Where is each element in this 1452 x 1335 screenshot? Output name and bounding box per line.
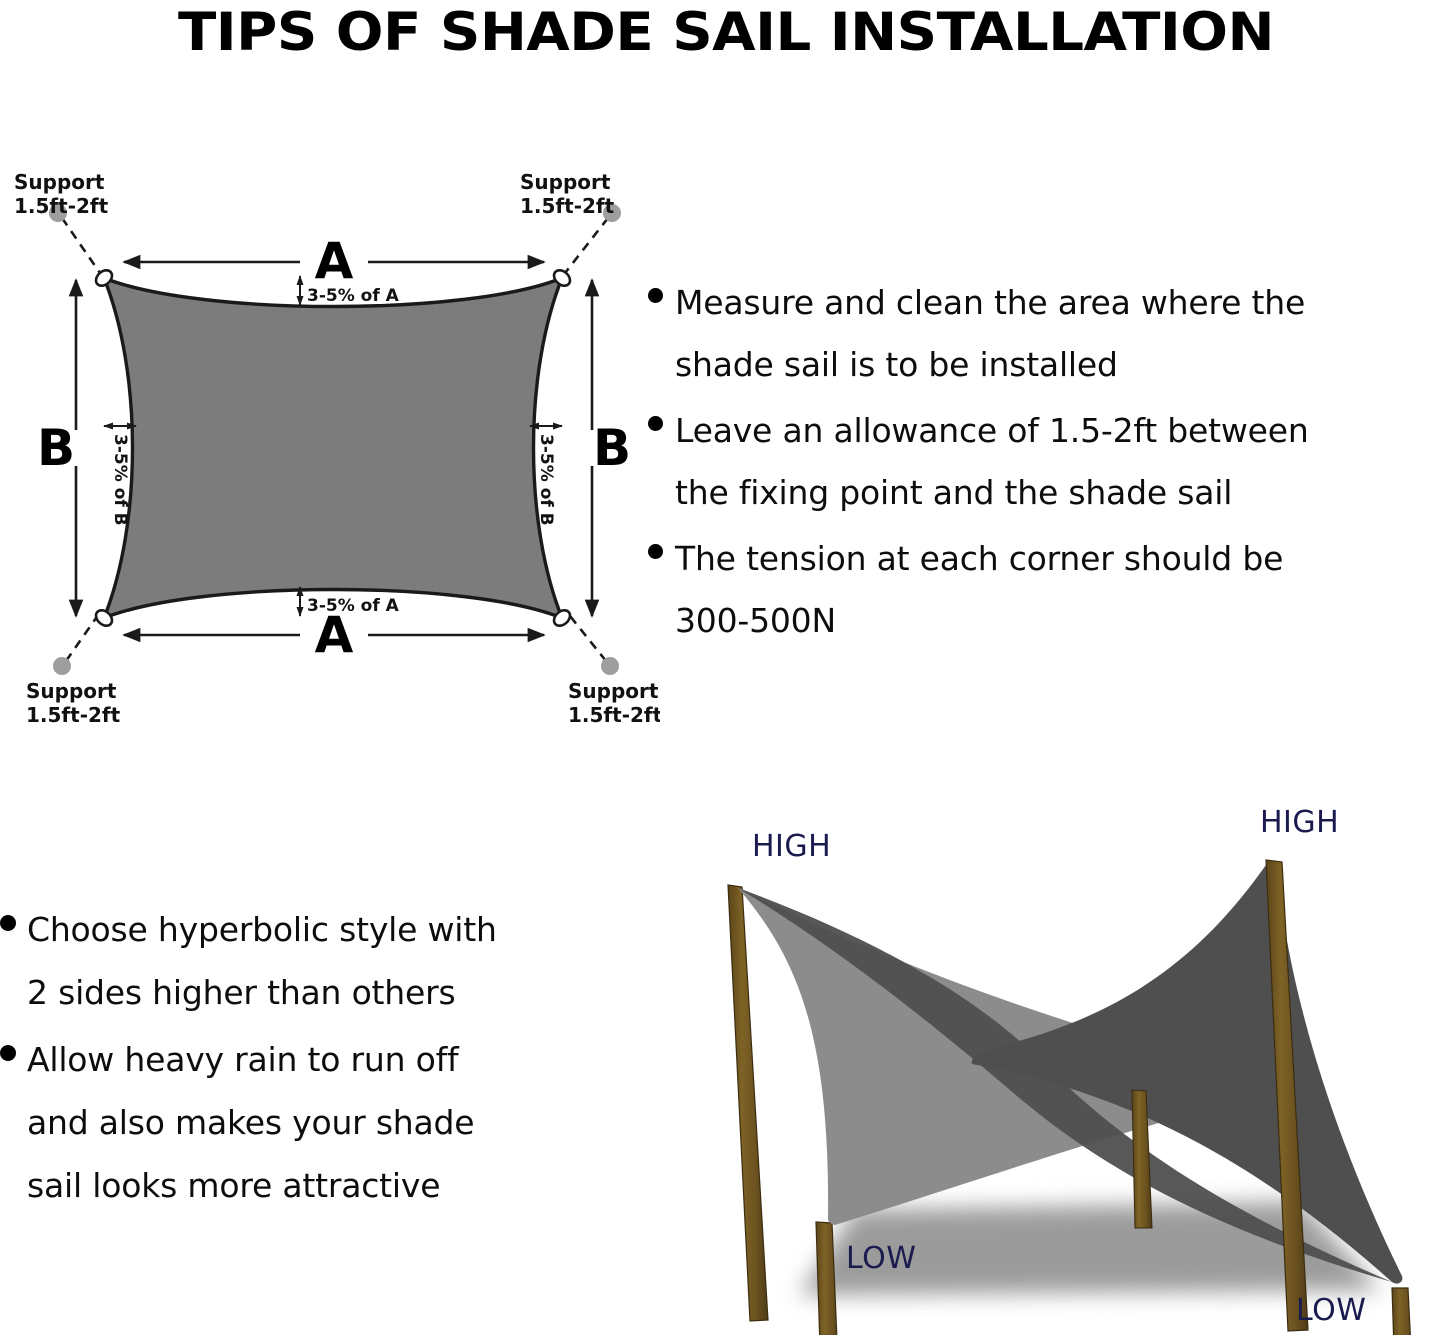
tip-text: Measure and clean the area where the sha… bbox=[675, 272, 1305, 396]
list-item: Leave an allowance of 1.5-2ft between th… bbox=[648, 400, 1452, 524]
support-top-left: Support 1.5ft-2ft bbox=[14, 170, 109, 273]
support-label-bottom-left-line1: Support bbox=[26, 679, 117, 703]
support-line-bottom-right bbox=[566, 611, 606, 661]
tip-text: The tension at each corner should be 300… bbox=[675, 528, 1283, 652]
list-item: Measure and clean the area where the sha… bbox=[648, 272, 1452, 396]
bullet-dot-icon bbox=[0, 915, 16, 931]
support-label-top-left-line1: Support bbox=[14, 170, 105, 194]
support-bottom-left: Support 1.5ft-2ft bbox=[26, 611, 121, 727]
support-label-bottom-right-line1: Support bbox=[568, 679, 659, 703]
page-title: TIPS OF SHADE SAIL INSTALLATION bbox=[0, 2, 1452, 63]
support-label-top-right-line2: 1.5ft-2ft bbox=[520, 194, 615, 218]
support-label-bottom-right-line2: 1.5ft-2ft bbox=[568, 703, 660, 727]
dimension-height-left: B bbox=[37, 280, 76, 616]
post-high-left bbox=[728, 885, 768, 1321]
dimension-height-right: B bbox=[592, 280, 631, 616]
tip-line: sail looks more attractive bbox=[27, 1166, 440, 1205]
tip-line: Choose hyperbolic style with bbox=[27, 910, 497, 949]
dimension-width-top: A bbox=[124, 232, 544, 290]
dimension-letter-a-top: A bbox=[315, 232, 354, 290]
tips-list-top: Measure and clean the area where the sha… bbox=[648, 272, 1452, 656]
curve-label-right: 3-5% of B bbox=[536, 434, 556, 526]
support-top-right: Support 1.5ft-2ft bbox=[520, 170, 621, 273]
post-low-right bbox=[1392, 1288, 1414, 1335]
dimension-letter-b-left: B bbox=[37, 419, 75, 477]
list-item: Allow heavy rain to run off and also mak… bbox=[0, 1028, 620, 1217]
curve-label-bottom: 3-5% of A bbox=[307, 596, 400, 616]
tip-line: and also makes your shade bbox=[27, 1103, 474, 1142]
tips-list-bottom: Choose hyperbolic style with 2 sides hig… bbox=[0, 898, 620, 1221]
list-item: The tension at each corner should be 300… bbox=[648, 528, 1452, 652]
label-high-right: HIGH bbox=[1260, 805, 1339, 840]
support-label-top-left-line2: 1.5ft-2ft bbox=[14, 194, 109, 218]
curve-label-top: 3-5% of A bbox=[307, 286, 400, 306]
list-item: Choose hyperbolic style with 2 sides hig… bbox=[0, 898, 620, 1024]
tip-text: Allow heavy rain to run off and also mak… bbox=[27, 1028, 474, 1217]
tip-line: The tension at each corner should be bbox=[675, 539, 1283, 578]
bullet-dot-icon bbox=[0, 1045, 16, 1061]
hyperbolic-sail-illustration: HIGH HIGH LOW LOW bbox=[680, 790, 1452, 1335]
support-line-top-right bbox=[565, 218, 608, 273]
tip-line: Leave an allowance of 1.5-2ft between bbox=[675, 411, 1309, 450]
tip-line: the fixing point and the shade sail bbox=[675, 473, 1232, 512]
tip-line: 2 sides higher than others bbox=[27, 973, 455, 1012]
tip-text: Choose hyperbolic style with 2 sides hig… bbox=[27, 898, 497, 1024]
dimension-letter-b-right: B bbox=[593, 419, 631, 477]
tip-line: shade sail is to be installed bbox=[675, 345, 1118, 384]
bullet-dot-icon bbox=[648, 544, 663, 559]
curve-label-left: 3-5% of B bbox=[110, 434, 130, 526]
tip-line: Measure and clean the area where the bbox=[675, 283, 1305, 322]
bullet-dot-icon bbox=[648, 416, 663, 431]
support-line-top-left bbox=[62, 218, 100, 273]
support-dot-bottom-right bbox=[601, 657, 619, 675]
support-bottom-right: Support 1.5ft-2ft bbox=[566, 611, 660, 727]
support-dot-bottom-left bbox=[53, 657, 71, 675]
tip-line: Allow heavy rain to run off bbox=[27, 1040, 458, 1079]
label-low-left: LOW bbox=[846, 1241, 916, 1276]
support-label-bottom-left-line2: 1.5ft-2ft bbox=[26, 703, 121, 727]
rectangular-sail-diagram: Support 1.5ft-2ft Support 1.5ft-2ft Supp… bbox=[0, 168, 660, 748]
bullet-dot-icon bbox=[648, 288, 663, 303]
label-high-left: HIGH bbox=[752, 829, 831, 864]
sail-shape bbox=[104, 278, 562, 618]
tip-text: Leave an allowance of 1.5-2ft between th… bbox=[675, 400, 1309, 524]
tip-line: 300-500N bbox=[675, 601, 836, 640]
support-label-top-right-line1: Support bbox=[520, 170, 611, 194]
